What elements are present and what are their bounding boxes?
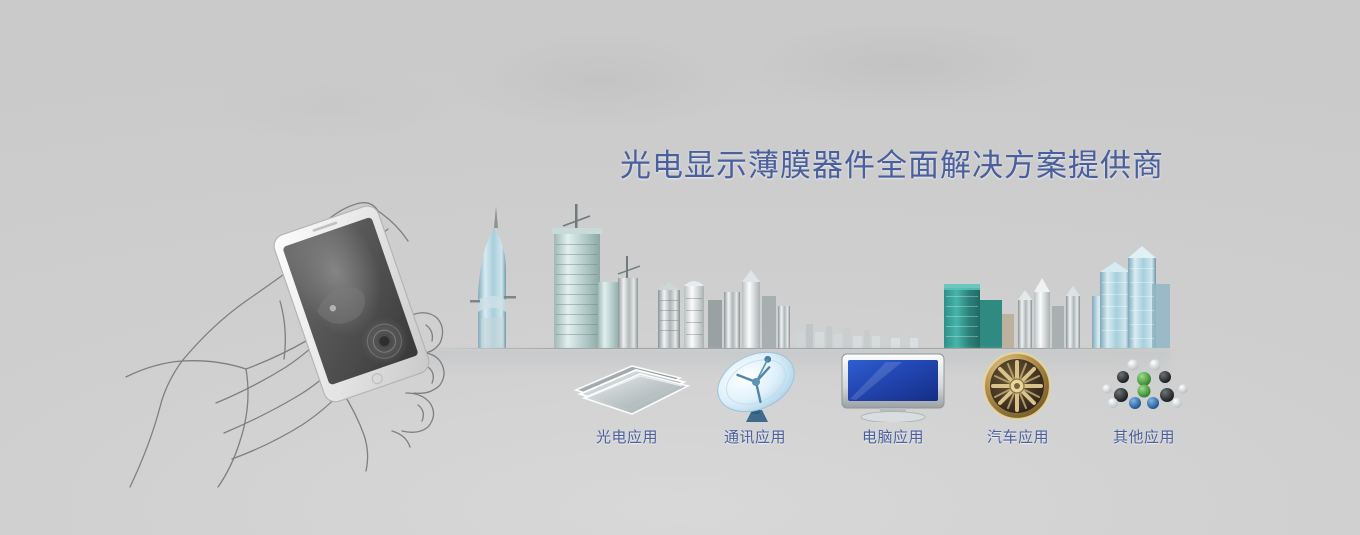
satellite-dish-icon: [690, 350, 820, 422]
hero-banner: 光电显示薄膜器件全面解决方案提供商: [0, 0, 1360, 535]
glass-film-panels-icon: [562, 350, 692, 422]
skyline-silver-spires: [1018, 278, 1080, 348]
skyline-small-buildings: [796, 324, 918, 348]
application-label: 通讯应用: [690, 426, 820, 447]
application-icons: 光电应用: [0, 350, 1360, 460]
application-label: 光电应用: [562, 426, 692, 447]
skyline-cluster-mid: [658, 270, 790, 348]
molecule-model-icon: [1079, 350, 1209, 422]
application-label: 其他应用: [1079, 426, 1209, 447]
application-item-other[interactable]: 其他应用: [1079, 350, 1209, 447]
car-alloy-wheel-icon: [953, 350, 1083, 422]
application-item-automotive[interactable]: 汽车应用: [953, 350, 1083, 447]
computer-monitor-icon: [828, 350, 958, 422]
application-label: 汽车应用: [953, 426, 1083, 447]
application-item-communication[interactable]: 通讯应用: [690, 350, 820, 447]
application-label: 电脑应用: [828, 426, 958, 447]
page-title: 光电显示薄膜器件全面解决方案提供商: [620, 140, 1164, 185]
skyline-glass-towers-right: [1092, 246, 1170, 348]
skyline-green-towers: [944, 284, 1014, 348]
skyline-tower-main: [552, 204, 640, 348]
application-item-computer[interactable]: 电脑应用: [828, 350, 958, 447]
application-item-optoelectronic[interactable]: 光电应用: [562, 350, 692, 447]
